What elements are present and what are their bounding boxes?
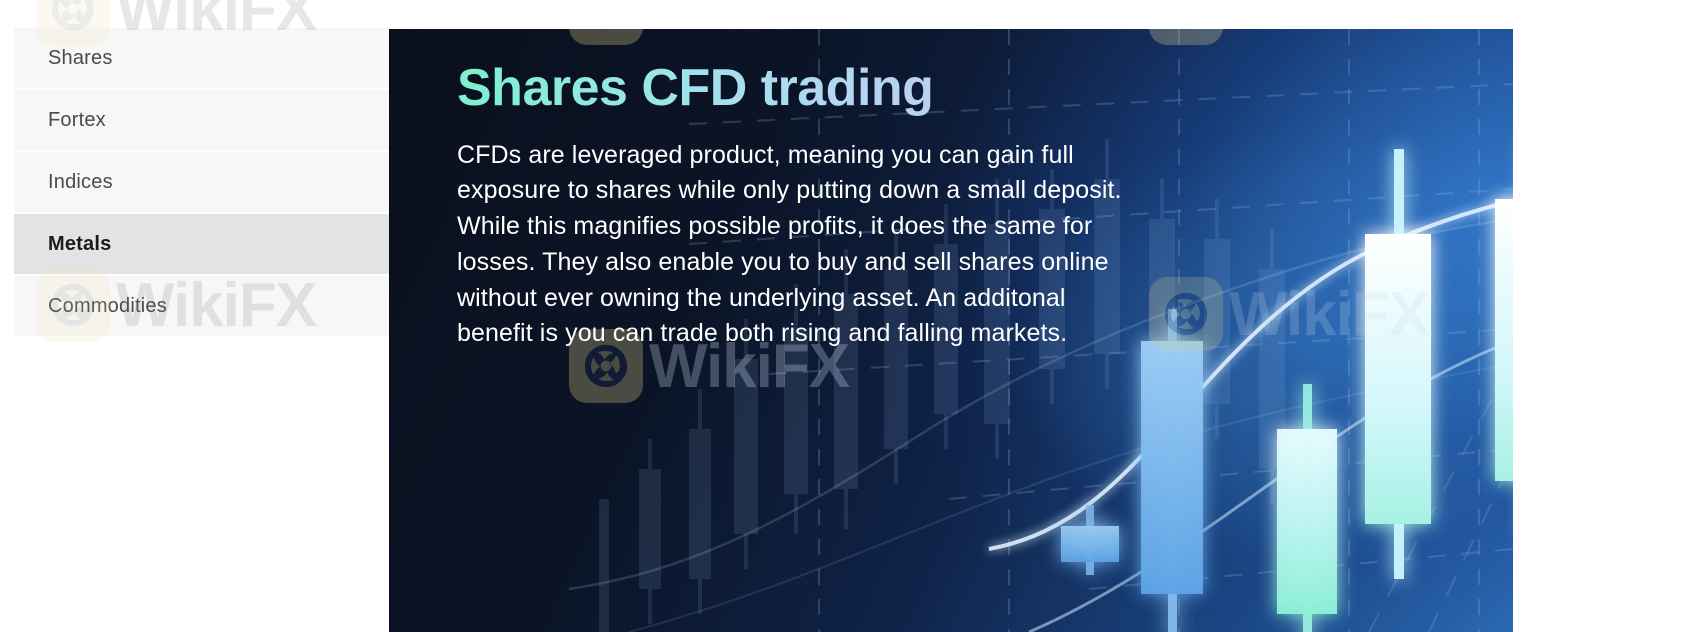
watermark: WikiFX	[569, 29, 849, 45]
wikifx-shutter-logo-icon	[1149, 29, 1223, 45]
wikifx-shutter-logo-icon	[36, 0, 110, 46]
watermark-text: WikiFX	[649, 29, 849, 44]
instrument-category-sidebar: Shares Fortex Indices Metals Commodities	[0, 0, 389, 632]
page-title: Shares CFD trading	[457, 61, 1157, 116]
right-white-margin	[1513, 0, 1696, 632]
hero-description: CFDs are leveraged product, meaning you …	[457, 138, 1137, 353]
watermark-text: WikiFX	[116, 270, 316, 341]
shares-cfd-hero-panel: Shares CFD trading CFDs are leveraged pr…	[389, 29, 1513, 632]
watermark-text: WikiFX	[1229, 29, 1429, 44]
hero-copy: Shares CFD trading CFDs are leveraged pr…	[457, 61, 1157, 352]
watermark-layer-light: WikiFX WikiFX	[0, 0, 389, 632]
watermark-text: WikiFX	[116, 0, 316, 45]
watermark-text: WikiFX	[1229, 279, 1429, 350]
watermark: WikiFX	[1149, 277, 1429, 351]
watermark: WikiFX	[36, 268, 316, 342]
wikifx-shutter-logo-icon	[36, 268, 110, 342]
wikifx-shutter-logo-icon	[569, 29, 643, 45]
screenshot-canvas: Shares Fortex Indices Metals Commodities	[0, 0, 1696, 632]
watermark: WikiFX	[1149, 29, 1429, 45]
watermark: WikiFX	[36, 0, 316, 46]
wikifx-shutter-logo-icon	[1149, 277, 1223, 351]
